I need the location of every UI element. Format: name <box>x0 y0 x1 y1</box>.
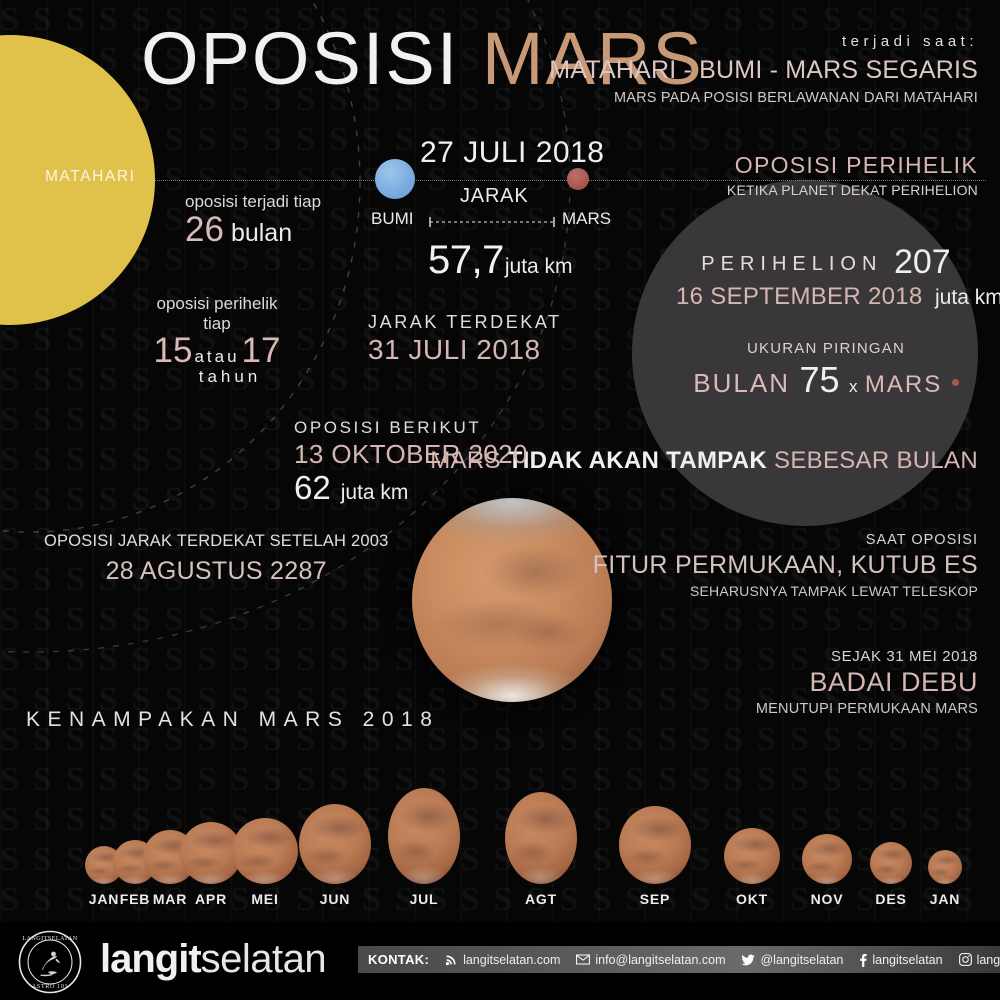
kenampakan-title: KENAMPAKAN MARS 2018 <box>26 708 439 732</box>
earth-planet-icon <box>375 159 415 199</box>
oposisi-berikut-value-row: 62juta km <box>294 469 528 507</box>
badai-headline: BADAI DEBU <box>756 667 978 698</box>
factor-value: 75 <box>799 359 839 400</box>
title-word-oposisi: OPOSISI <box>141 17 459 100</box>
mars-disk-holder <box>388 764 460 884</box>
month-cell: JAN <box>909 764 981 907</box>
oposisi-tiap-block: oposisi terjadi tiap 26bulan <box>185 192 321 250</box>
segaris-subtext: MARS PADA POSISI BERLAWANAN DARI MATAHAR… <box>549 90 978 106</box>
month-label: SEP <box>619 891 691 907</box>
mars-disk <box>299 804 371 884</box>
fitur-subtext: SEHARUSNYA TAMPAK LEWAT TELESKOP <box>593 583 978 599</box>
alignment-line-left <box>148 180 376 181</box>
oposisi-perihelik-sub: KETIKA PLANET DEKAT PERIHELION <box>727 182 978 198</box>
jarak-value-row: 57,7juta km <box>428 238 573 283</box>
fitur-headline: FITUR PERMUKAAN, KUTUB ES <box>593 551 978 580</box>
ukuran-piringan-formula: BULAN 75 x MARS <box>676 359 976 401</box>
perihelion-label: PERIHELION <box>701 253 882 275</box>
perihelik-tiap-values: 15atau17 <box>142 331 292 371</box>
mars-disk <box>870 842 912 884</box>
oposisi-berikut-date: 13 OKTOBER 2020 <box>294 439 528 470</box>
svg-text:ASTRO 101: ASTRO 101 <box>32 983 69 990</box>
segaris-headline: MATAHARI - BUMI - MARS SEGARIS <box>549 56 978 85</box>
contact-item[interactable]: langitselatan <box>859 953 942 967</box>
month-cell: JUN <box>299 764 371 907</box>
bulan-label: BULAN <box>693 368 790 398</box>
contact-text: langitselatanmedia <box>977 953 1000 967</box>
month-label: AGT <box>505 891 577 907</box>
facebook-icon <box>859 953 867 967</box>
oposisi-perihelik-block: OPOSISI PERIHELIK KETIKA PLANET DEKAT PE… <box>727 152 978 198</box>
perihelik-tiap-label: oposisi perihelik tiap <box>142 294 292 334</box>
mars-disk-holder <box>619 764 691 884</box>
mars-disk-holder <box>716 764 788 884</box>
mars-disk-holder <box>791 764 863 884</box>
oposisi-tiap-value-row: 26bulan <box>185 210 321 250</box>
brand-wordmark: langitselatan <box>100 939 326 979</box>
oposisi-berikut-block: OPOSISI BERIKUT 13 OKTOBER 2020 62juta k… <box>294 418 528 507</box>
brand-bold: langit <box>100 937 201 981</box>
month-label: JUL <box>388 891 460 907</box>
kontak-label: KONTAK: <box>368 952 429 967</box>
brand-light: selatan <box>201 937 326 981</box>
month-cell: SEP <box>619 764 691 907</box>
ukuran-piringan-block: UKURAN PIRINGAN BULAN 75 x MARS <box>676 340 976 401</box>
mars-disk <box>724 828 780 884</box>
jarak-value: 57,7 <box>428 238 504 282</box>
contact-bar: KONTAK: langitselatan.cominfo@langitsela… <box>358 946 1000 973</box>
month-cell: AGT <box>505 764 577 907</box>
oposisi-berikut-value: 62 <box>294 469 331 506</box>
opposition-date: 27 JULI 2018 <box>420 136 604 170</box>
mars-disk <box>505 792 577 884</box>
fitur-permukaan-block: SAAT OPOSISI FITUR PERMUKAAN, KUTUB ES S… <box>593 532 978 599</box>
month-label: NOV <box>791 891 863 907</box>
month-label: OKT <box>716 891 788 907</box>
instagram-icon <box>959 953 972 966</box>
jarak-terdekat-date: 31 JULI 2018 <box>368 334 562 366</box>
terjadi-saat-kicker: terjadi saat: <box>549 33 978 50</box>
oposisi-perihelik-heading: OPOSISI PERIHELIK <box>727 152 978 179</box>
contact-text: langitselatan.com <box>463 953 560 967</box>
mars-disk <box>232 818 298 884</box>
perihelion-row-date: 16 SEPTEMBER 2018 juta km <box>676 283 976 311</box>
contact-item[interactable]: @langitselatan <box>741 953 843 967</box>
contact-text: langitselatan <box>872 953 942 967</box>
badai-debu-block: SEJAK 31 MEI 2018 BADAI DEBU MENUTUPI PE… <box>756 648 978 717</box>
mars-disk-holder <box>299 764 371 884</box>
jarak-unit: juta km <box>505 255 573 278</box>
mars-disk <box>619 806 691 884</box>
twitter-icon <box>741 954 755 966</box>
oposisi-tiap-label: oposisi terjadi tiap <box>185 192 321 212</box>
mars-disk-holder <box>505 764 577 884</box>
contact-text: info@langitselatan.com <box>595 953 725 967</box>
contact-item[interactable]: info@langitselatan.com <box>576 953 725 967</box>
perihelik-tiap-conj: atau <box>194 347 239 366</box>
rss-icon <box>445 953 458 966</box>
svg-text:LANGITSELATAN: LANGITSELATAN <box>22 935 77 942</box>
mars-dot-icon <box>952 379 959 386</box>
setelah-2003-block: OPOSISI JARAK TERDEKAT SETELAH 2003 28 A… <box>44 532 388 586</box>
infographic-canvas: SSSSSSSSSSSSSSSSSSSSSSSSSSSSSSSSSSSSSSSS… <box>0 0 1000 1000</box>
month-cell: JUL <box>388 764 460 907</box>
fitur-kicker: SAAT OPOSISI <box>593 532 978 548</box>
perihelik-tiap-block: oposisi perihelik tiap 15atau17 tahun <box>142 294 292 387</box>
mars-disk <box>928 850 962 884</box>
badai-kicker: SEJAK 31 MEI 2018 <box>756 648 978 665</box>
perihelion-distance-unit: juta km <box>935 286 1000 309</box>
contact-text: @langitselatan <box>760 953 843 967</box>
setelah-2003-date: 28 AGUSTUS 2287 <box>44 557 388 586</box>
jarak-terdekat-label: JARAK TERDEKAT <box>368 312 562 333</box>
mars-apparent-size-row: JANFEBMARAPRMEIJUNJULAGTSEPOKTNOVDESJAN <box>0 752 1000 907</box>
setelah-2003-label: OPOSISI JARAK TERDEKAT SETELAH 2003 <box>44 532 388 551</box>
sun-label: MATAHARI <box>45 168 136 186</box>
envelope-icon <box>576 954 590 965</box>
alignment-line-mid <box>414 180 569 181</box>
perihelik-tiap-value2: 17 <box>242 331 281 370</box>
oposisi-tiap-unit: bulan <box>231 219 292 247</box>
mars-photo <box>412 498 612 702</box>
mars-disk-holder <box>229 764 301 884</box>
mars-disk-holder <box>909 764 981 884</box>
statement-part2: SEBESAR BULAN <box>767 447 978 474</box>
jarak-terdekat-block: JARAK TERDEKAT 31 JULI 2018 <box>368 312 562 366</box>
month-label: MEI <box>229 891 301 907</box>
mars-disk <box>802 834 852 884</box>
oposisi-berikut-label: OPOSISI BERIKUT <box>294 418 528 438</box>
contact-item[interactable]: langitselatanmedia <box>959 953 1000 967</box>
perihelik-tiap-value1: 15 <box>154 331 193 370</box>
perihelion-date: 16 SEPTEMBER 2018 <box>676 283 923 310</box>
distance-measure-arrow <box>428 216 556 228</box>
perihelion-detail-block: PERIHELION 207 16 SEPTEMBER 2018 juta km <box>676 243 976 311</box>
month-cell: MEI <box>229 764 301 907</box>
month-label: JAN <box>909 891 981 907</box>
statement-bold: TIDAK AKAN TAMPAK <box>508 447 767 474</box>
month-label: JUN <box>299 891 371 907</box>
top-right-block: terjadi saat: MATAHARI - BUMI - MARS SEG… <box>549 33 978 106</box>
earth-label: BUMI <box>371 209 414 229</box>
mars-label: MARS <box>865 371 942 398</box>
contact-item[interactable]: langitselatan.com <box>445 953 560 967</box>
langitselatan-logo-icon: LANGITSELATAN ASTRO 101 <box>18 930 82 994</box>
times-symbol: x <box>849 377 858 396</box>
perihelion-distance-value: 207 <box>894 243 951 281</box>
footer: LANGITSELATAN ASTRO 101 langitselatan KO… <box>0 922 1000 1000</box>
perihelion-row-label: PERIHELION 207 <box>676 243 976 282</box>
oposisi-berikut-unit: juta km <box>341 481 409 504</box>
mars-planet-icon <box>567 168 589 190</box>
mars-disk <box>388 788 460 884</box>
oposisi-tiap-value: 26 <box>185 210 224 249</box>
badai-subtext: MENUTUPI PERMUKAAN MARS <box>756 701 978 717</box>
month-cell: NOV <box>791 764 863 907</box>
mars-label-center: MARS <box>562 209 611 229</box>
jarak-caption: JARAK <box>460 185 528 208</box>
ukuran-piringan-title: UKURAN PIRINGAN <box>676 340 976 357</box>
month-cell: OKT <box>716 764 788 907</box>
